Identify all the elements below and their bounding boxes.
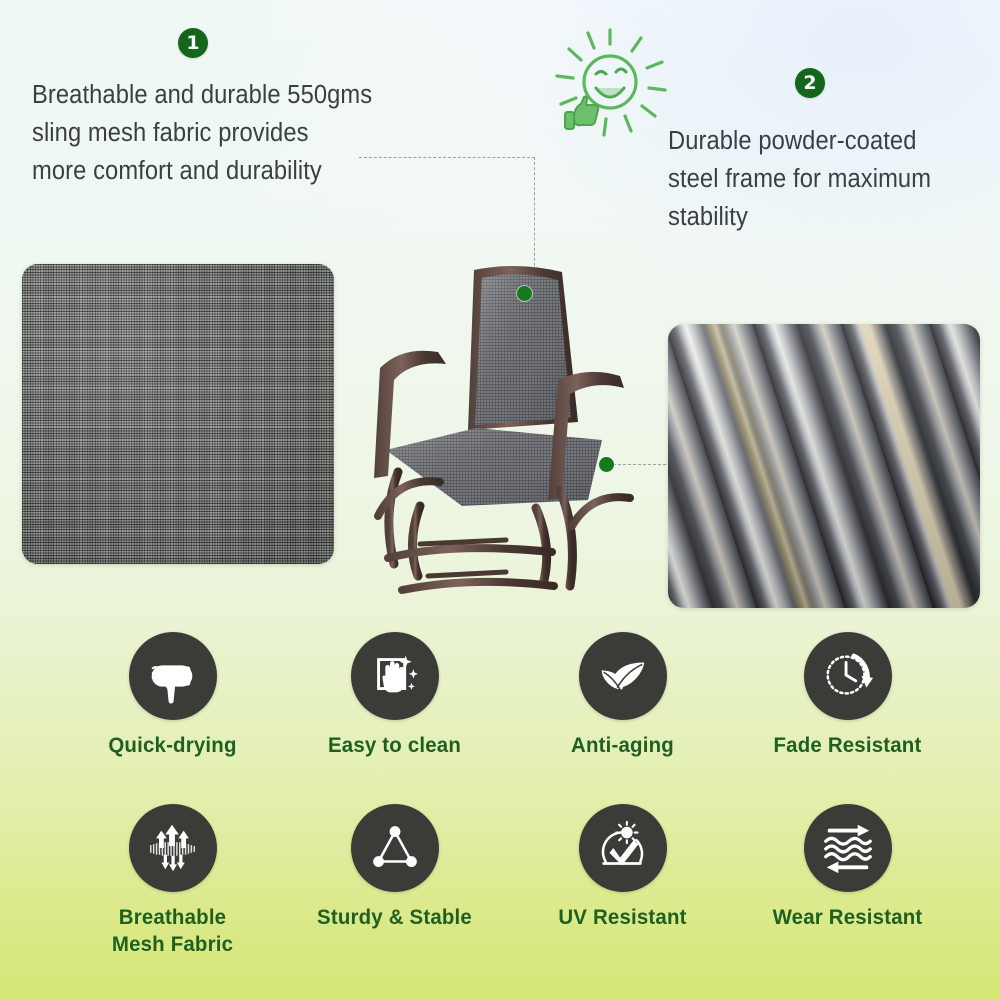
feature-label: Breathable Mesh Fabric	[66, 904, 280, 958]
infographic-canvas: 1 Breathable and durable 550gms sling me…	[0, 0, 1000, 1000]
callout-text-1: Breathable and durable 550gms sling mesh…	[32, 76, 423, 190]
airflow-arrows-icon	[129, 804, 217, 892]
feature-label: Sturdy & Stable	[288, 904, 502, 931]
feature-fade-resistant: Fade Resistant	[735, 632, 960, 759]
feature-row-1: Quick-drying Easy to clean	[60, 632, 960, 797]
feature-label: Wear Resistant	[741, 904, 955, 931]
callout-1-connector-horizontal	[359, 157, 535, 158]
callout-badge-2: 2	[795, 68, 825, 98]
callout-text-2: Durable powder-coated steel frame for ma…	[668, 122, 994, 236]
feature-quick-drying: Quick-drying	[60, 632, 285, 759]
wiping-hand-sparkle-icon	[351, 632, 439, 720]
leaves-icon	[579, 632, 667, 720]
feature-grid: Quick-drying Easy to clean	[60, 632, 960, 982]
sling-mesh-fabric-swatch-photo	[22, 264, 334, 564]
smiling-sun-thumbs-up-icon	[552, 24, 670, 144]
clock-arrow-icon	[804, 632, 892, 720]
waves-arrows-icon	[804, 804, 892, 892]
feature-uv-resistant: UV Resistant	[510, 804, 735, 931]
powder-coated-steel-tubes-photo	[668, 324, 980, 608]
callout-2-anchor-dot	[599, 457, 614, 472]
feature-label: UV Resistant	[516, 904, 730, 931]
feature-label: Easy to clean	[288, 732, 502, 759]
callout-badge-1: 1	[178, 28, 208, 58]
triangle-nodes-icon	[351, 804, 439, 892]
patio-glider-chair-photo	[372, 258, 668, 618]
feature-label: Quick-drying	[66, 732, 280, 759]
feature-anti-aging: Anti-aging	[510, 632, 735, 759]
feature-sturdy-stable: Sturdy & Stable	[282, 804, 507, 931]
callout-1-anchor-dot	[517, 286, 532, 301]
feature-easy-to-clean: Easy to clean	[282, 632, 507, 759]
hair-dryer-icon	[129, 632, 217, 720]
sun-check-icon	[579, 804, 667, 892]
feature-label: Anti-aging	[516, 732, 730, 759]
feature-row-2: Breathable Mesh Fabric St	[60, 804, 960, 969]
feature-wear-resistant: Wear Resistant	[735, 804, 960, 931]
feature-label: Fade Resistant	[741, 732, 955, 759]
feature-breathable-mesh-fabric: Breathable Mesh Fabric	[60, 804, 285, 958]
